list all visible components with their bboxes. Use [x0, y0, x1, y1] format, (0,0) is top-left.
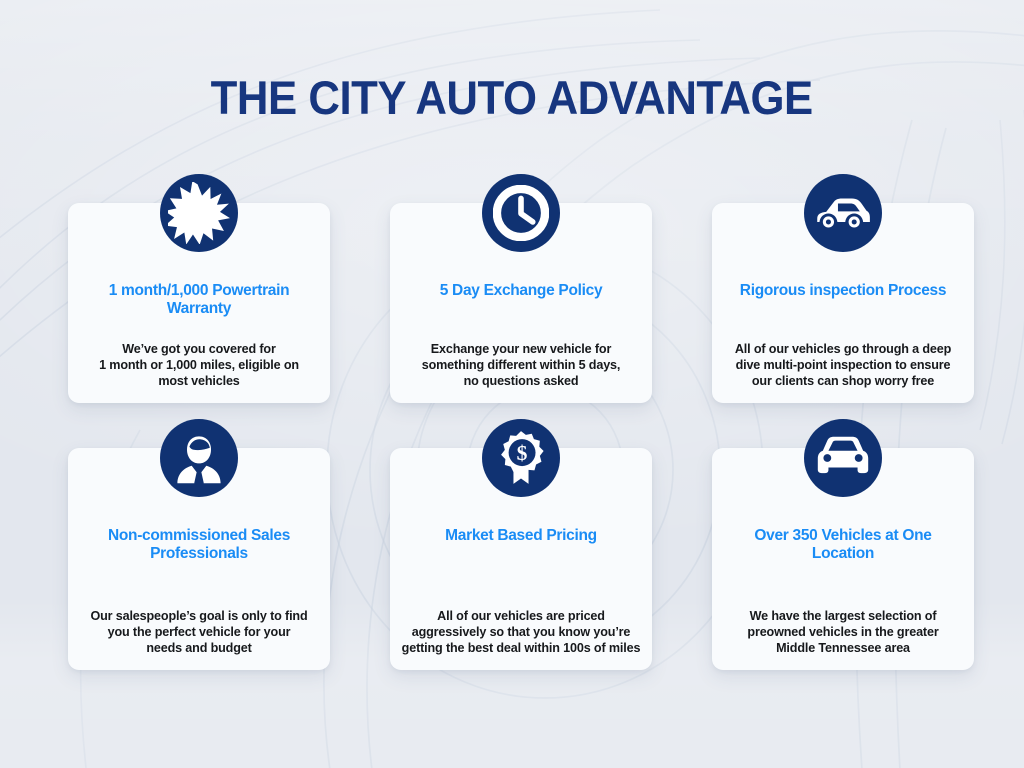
card-heading-line: Over 350 Vehicles at [754, 527, 898, 544]
card-body-line: getting the best deal within 100s of mil… [401, 640, 641, 656]
card-body-line: something different within 5 days, [401, 357, 641, 373]
card-body-line: Exchange your new vehicle for [401, 341, 641, 357]
card-body-line: aggressively so that you know you’re [401, 624, 641, 640]
card-body-line: Middle Tennessee area [723, 640, 963, 656]
advantage-card[interactable]: Non-commissioned Sales Professionals Our… [68, 448, 330, 670]
card-body-line: Our salespeople’s goal is only to find [79, 608, 319, 624]
card-heading-line: 5 Day Exchange Policy [440, 282, 603, 299]
card-heading: 1 month/1,000 Powertrain Warranty [83, 282, 315, 319]
card-body: We have the largest selection of preowne… [723, 608, 963, 656]
card-heading: Non-commissioned Sales Professionals [83, 527, 315, 564]
card-row-bottom: Non-commissioned Sales Professionals Our… [68, 448, 974, 670]
clock-icon [482, 174, 560, 252]
card-heading: Over 350 Vehicles at One Location [727, 527, 959, 564]
card-body-line: most vehicles [79, 373, 319, 389]
card-body: All of our vehicles go through a deep di… [723, 341, 963, 389]
card-heading: 5 Day Exchange Policy [405, 282, 637, 300]
card-heading-line: Non-commissioned [108, 527, 247, 544]
card-heading-line: Rigorous inspection [740, 282, 884, 299]
card-heading: Market Based Pricing [405, 527, 637, 545]
advantage-infographic: THE CITY AUTO ADVANTAGE 1 month/1,000 Po… [0, 0, 1024, 768]
car-side-icon [804, 174, 882, 252]
card-body: Our salespeople’s goal is only to find y… [79, 608, 319, 656]
card-body-line: All of our vehicles go through a deep [723, 341, 963, 357]
card-body: All of our vehicles are priced aggressiv… [401, 608, 641, 656]
card-body-line: dive multi-point inspection to ensure [723, 357, 963, 373]
card-row-top: 1 month/1,000 Powertrain Warranty We’ve … [68, 203, 974, 403]
svg-text:$: $ [517, 441, 528, 465]
car-front-icon [804, 419, 882, 497]
advantage-card[interactable]: Rigorous inspection Process All of our v… [712, 203, 974, 403]
card-body: Exchange your new vehicle for something … [401, 341, 641, 389]
salesperson-icon [160, 419, 238, 497]
card-heading: Rigorous inspection Process [727, 282, 959, 300]
page-title-wrap: THE CITY AUTO ADVANTAGE [0, 74, 1024, 121]
page-title: THE CITY AUTO ADVANTAGE [211, 74, 813, 121]
card-body-line: our clients can shop worry free [723, 373, 963, 389]
card-body: We’ve got you covered for 1 month or 1,0… [79, 341, 319, 389]
advantage-card-grid: 1 month/1,000 Powertrain Warranty We’ve … [68, 203, 974, 670]
card-body-line: preowned vehicles in the greater [723, 624, 963, 640]
card-body-line: 1 month or 1,000 miles, eligible on [79, 357, 319, 373]
card-body-line: We have the largest selection of [723, 608, 963, 624]
card-body-line: you the perfect vehicle for your [79, 624, 319, 640]
card-body-line: We’ve got you covered for [79, 341, 319, 357]
card-body-line: All of our vehicles are priced [401, 608, 641, 624]
card-body-line: needs and budget [79, 640, 319, 656]
advantage-card[interactable]: 5 Day Exchange Policy Exchange your new … [390, 203, 652, 403]
advantage-card[interactable]: 1 month/1,000 Powertrain Warranty We’ve … [68, 203, 330, 403]
advantage-card[interactable]: Over 350 Vehicles at One Location We hav… [712, 448, 974, 670]
advantage-card[interactable]: $ Market Based Pricing All of our vehicl… [390, 448, 652, 670]
card-heading-line: Process [888, 282, 946, 299]
card-heading-line: 1 month/1,000 [109, 282, 208, 299]
dollar-badge-icon: $ [482, 419, 560, 497]
starburst-icon [160, 174, 238, 252]
card-body-line: no questions asked [401, 373, 641, 389]
card-heading-line: Market Based Pricing [445, 527, 597, 544]
